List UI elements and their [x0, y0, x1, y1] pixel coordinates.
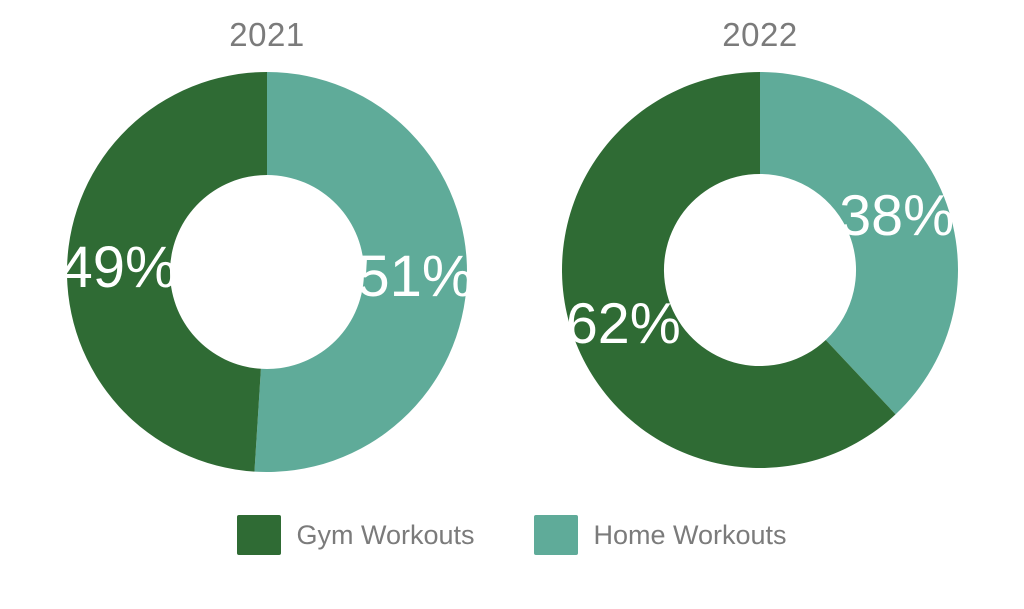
- donut-svg-2021: 51% 49%: [67, 72, 467, 472]
- donut-svg-2022: 38% 62%: [562, 72, 958, 468]
- chart-canvas: 2021 2022 51% 49% 38% 62% Gym Workouts: [0, 0, 1024, 609]
- donut-slices-2022: [562, 72, 958, 468]
- chart-legend: Gym Workouts Home Workouts: [0, 515, 1024, 555]
- slice-label-gym-workouts-2022: 62%: [566, 292, 681, 356]
- legend-label-home-workouts: Home Workouts: [593, 522, 786, 549]
- legend-item-home-workouts[interactable]: Home Workouts: [534, 515, 786, 555]
- slice-label-gym-workouts-2021: 49%: [67, 235, 177, 300]
- donut-chart-2022: 38% 62%: [562, 72, 958, 468]
- legend-label-gym-workouts: Gym Workouts: [296, 522, 474, 549]
- donut-chart-2021: 51% 49%: [67, 72, 467, 472]
- chart-title-2021: 2021: [137, 18, 397, 51]
- legend-swatch-home-workouts: [534, 515, 578, 555]
- legend-item-gym-workouts[interactable]: Gym Workouts: [237, 515, 474, 555]
- slice-label-home-workouts-2021: 51%: [357, 244, 467, 309]
- legend-swatch-gym-workouts: [237, 515, 281, 555]
- slice-label-home-workouts-2022: 38%: [839, 184, 954, 248]
- chart-title-2022: 2022: [630, 18, 890, 51]
